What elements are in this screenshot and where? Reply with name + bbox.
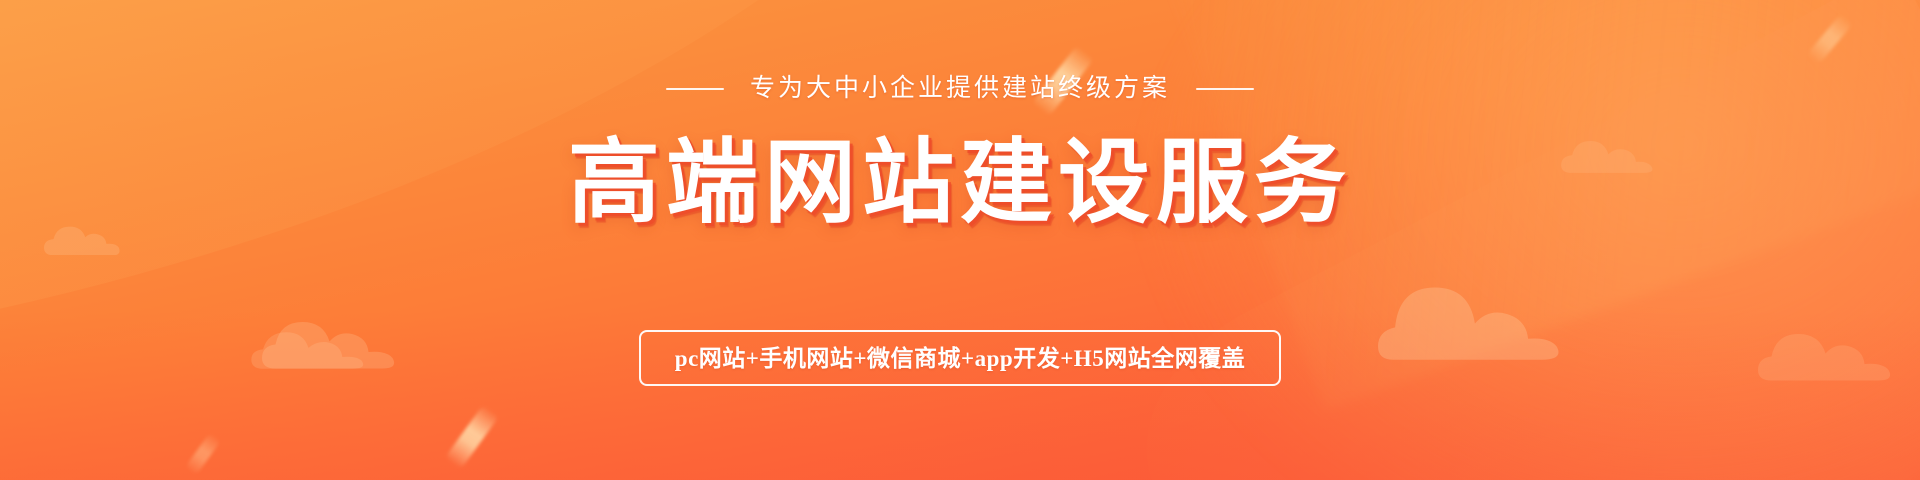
rule-right-decoration <box>1196 88 1254 90</box>
banner-subtitle: 专为大中小企业提供建站终级方案 <box>750 76 1170 101</box>
cta-button[interactable]: pc网站+手机网站+微信商城+app开发+H5网站全网覆盖 <box>639 330 1281 386</box>
banner-headline: 高端网站建设服务 <box>568 135 1352 233</box>
cta-button-label: pc网站+手机网站+微信商城+app开发+H5网站全网覆盖 <box>675 347 1245 370</box>
banner-content: 专为大中小企业提供建站终级方案 高端网站建设服务 pc网站+手机网站+微信商城+… <box>0 0 1920 480</box>
rule-left-decoration <box>666 88 724 90</box>
hero-banner: 专为大中小企业提供建站终级方案 高端网站建设服务 pc网站+手机网站+微信商城+… <box>0 0 1920 480</box>
subtitle-row: 专为大中小企业提供建站终级方案 <box>666 76 1254 101</box>
